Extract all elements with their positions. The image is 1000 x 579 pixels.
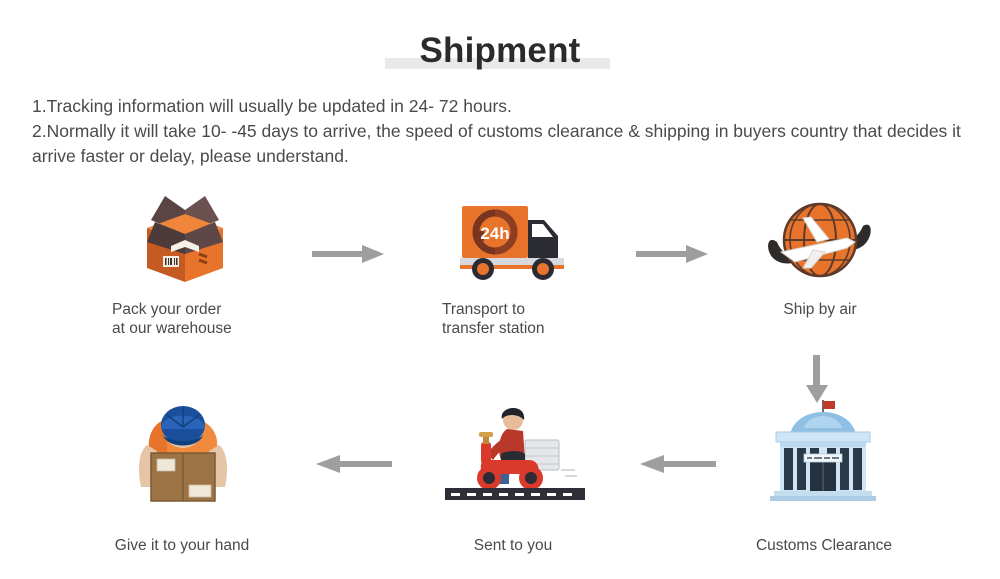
- globe-airplane-icon: [705, 190, 935, 290]
- step-give-to-hand-caption: Give it to your hand: [62, 537, 302, 555]
- step-transport: 24h Transport to transfer station: [400, 190, 630, 338]
- arrow-down-air-to-customs: [802, 355, 832, 410]
- scooter-courier-icon-svg: [445, 398, 585, 503]
- customs-building-icon-svg: [760, 398, 886, 503]
- step-ship-by-air-caption: Ship by air: [705, 300, 935, 319]
- open-box-icon: [70, 190, 300, 290]
- step-sent-to-you: [400, 400, 630, 500]
- truck-badge-label: 24h: [480, 224, 509, 243]
- scooter-courier-icon: [400, 400, 630, 500]
- customs-building-icon: [708, 400, 938, 500]
- page-title-area: Shipment: [0, 28, 1000, 80]
- open-box-icon-svg: [129, 190, 241, 290]
- delivery-truck-icon-svg: 24h: [450, 190, 580, 290]
- delivery-truck-icon: 24h: [400, 190, 630, 290]
- step-give-to-hand: [68, 400, 298, 500]
- caption-line-1: Transport to: [442, 301, 525, 318]
- arrow-right-transport-to-air: [636, 240, 712, 273]
- delivery-person-icon: [68, 400, 298, 500]
- page-title: Shipment: [0, 28, 1000, 74]
- arrow-right-pack-to-transport: [312, 240, 388, 273]
- shipment-infographic: Shipment 1.Tracking information will usu…: [0, 0, 1000, 579]
- delivery-person-icon-svg: [127, 395, 239, 505]
- caption-line-1: Pack your order: [112, 301, 221, 318]
- step-customs-clearance-caption: Customs Clearance: [704, 537, 944, 555]
- flow-row-top: Pack your order at our warehouse 24h: [0, 190, 1000, 350]
- shipping-note-2: 2.Normally it will take 10- -45 days to …: [32, 119, 972, 169]
- step-customs-clearance: [708, 400, 938, 500]
- step-transport-caption: Transport to transfer station: [400, 300, 630, 338]
- step-pack-order: Pack your order at our warehouse: [70, 190, 300, 338]
- shipping-note-1: 1.Tracking information will usually be u…: [32, 94, 972, 119]
- step-pack-order-caption: Pack your order at our warehouse: [70, 300, 300, 338]
- step-sent-to-you-caption: Sent to you: [393, 537, 633, 555]
- globe-airplane-icon-svg: [761, 190, 879, 290]
- arrow-left-customs-to-sent: [636, 450, 716, 483]
- caption-line-2: at our warehouse: [112, 320, 232, 337]
- shipping-notes: 1.Tracking information will usually be u…: [32, 94, 972, 169]
- arrow-left-sent-to-hand: [312, 450, 392, 483]
- step-ship-by-air: Ship by air: [705, 190, 935, 319]
- caption-line-2: transfer station: [442, 320, 545, 337]
